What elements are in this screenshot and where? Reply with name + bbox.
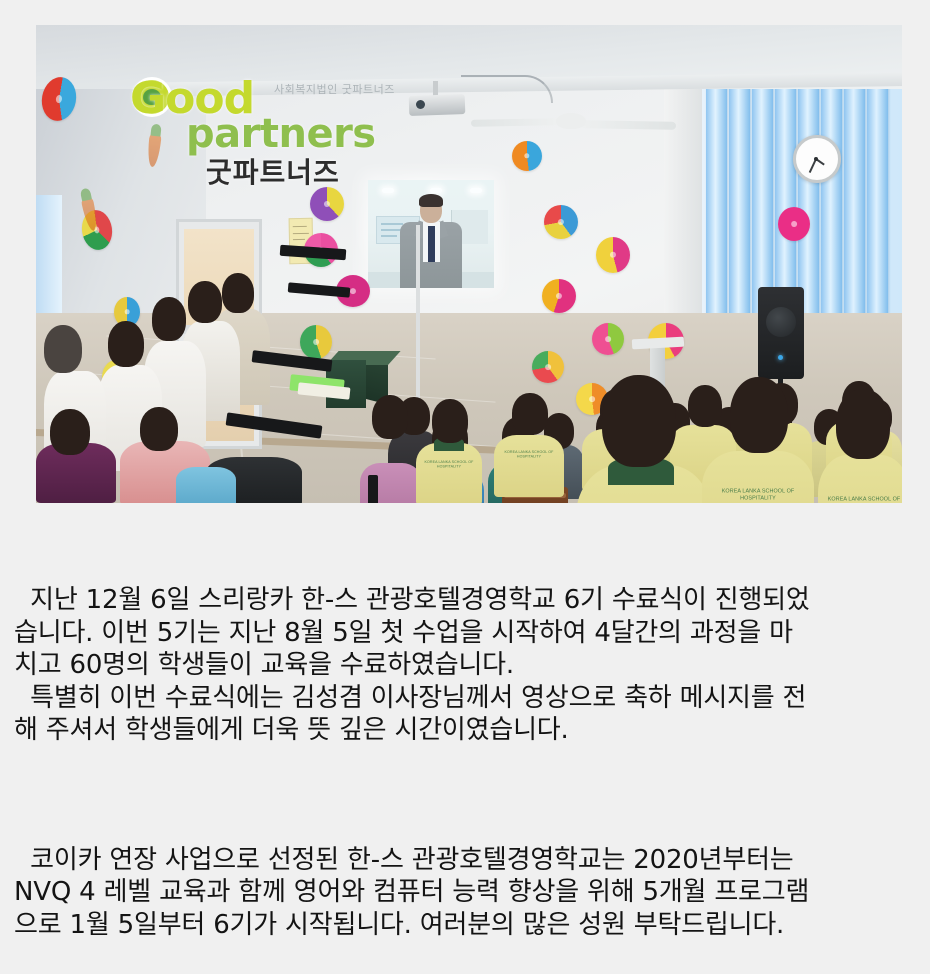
clock-center bbox=[814, 157, 818, 161]
audience-person-front bbox=[818, 455, 902, 503]
video-person-hair bbox=[419, 194, 443, 207]
guest-head-gray bbox=[44, 325, 82, 373]
black-chair-leg bbox=[368, 475, 378, 503]
speaker-led bbox=[778, 355, 783, 360]
screen-light bbox=[470, 188, 482, 193]
guest-head bbox=[152, 297, 186, 341]
pinwheel-decoration bbox=[542, 279, 576, 313]
guest-bag bbox=[176, 467, 236, 503]
audience-person bbox=[416, 443, 482, 503]
audience-head bbox=[688, 385, 722, 427]
projector-lens bbox=[416, 100, 425, 109]
wall-clock bbox=[793, 135, 841, 183]
guest-head bbox=[222, 273, 254, 313]
audience-person bbox=[494, 435, 564, 497]
guest-head bbox=[188, 281, 222, 323]
pinwheel-decoration bbox=[300, 325, 332, 359]
ceiling-fan-blade bbox=[471, 118, 557, 126]
guest-head bbox=[108, 321, 144, 367]
pinwheel-decoration bbox=[592, 323, 624, 355]
pinwheel-decoration bbox=[778, 207, 810, 241]
audience-head-front bbox=[602, 375, 676, 467]
projector-cable bbox=[461, 75, 553, 103]
guest-head bbox=[50, 409, 90, 455]
projection-screen bbox=[368, 180, 494, 288]
speaker-cone bbox=[766, 307, 796, 337]
audience-head bbox=[432, 399, 468, 443]
caption-block: 지난 12월 6일 스리랑카 한-스 관광호텔경영학교 6기 수료식이 진행되었… bbox=[14, 519, 920, 974]
ceremony-photo: KOREA LANKA SCHOOL OF HOSPITALITY HOTEL … bbox=[36, 25, 902, 503]
audience-head-front bbox=[836, 389, 890, 459]
pinwheel-decoration bbox=[310, 187, 344, 221]
ceiling-fan-blade bbox=[581, 120, 676, 130]
pinwheel-decoration bbox=[544, 205, 578, 239]
pinwheel-decoration bbox=[532, 351, 564, 383]
caption-paragraph-1: 지난 12월 6일 스리랑카 한-스 관광호텔경영학교 6기 수료식이 진행되었… bbox=[14, 584, 920, 747]
pinwheel-decoration bbox=[512, 141, 542, 171]
screen-light bbox=[382, 188, 394, 193]
pinwheel-decoration bbox=[596, 237, 630, 273]
guest-head bbox=[140, 407, 178, 451]
audience-head bbox=[512, 393, 548, 435]
photo-scene: KOREA LANKA SCHOOL OF HOSPITALITY HOTEL … bbox=[36, 25, 902, 503]
ceiling-fan-icon bbox=[556, 113, 586, 129]
video-person-tie bbox=[428, 226, 435, 262]
audience-head bbox=[372, 395, 408, 439]
audience-head-front bbox=[730, 377, 788, 453]
audience-person-front bbox=[702, 451, 814, 503]
screen-light bbox=[430, 188, 442, 193]
caption-paragraph-2: 코이카 연장 사업으로 선정된 한-스 관광호텔경영학교는 2020년부터는 N… bbox=[14, 844, 920, 942]
